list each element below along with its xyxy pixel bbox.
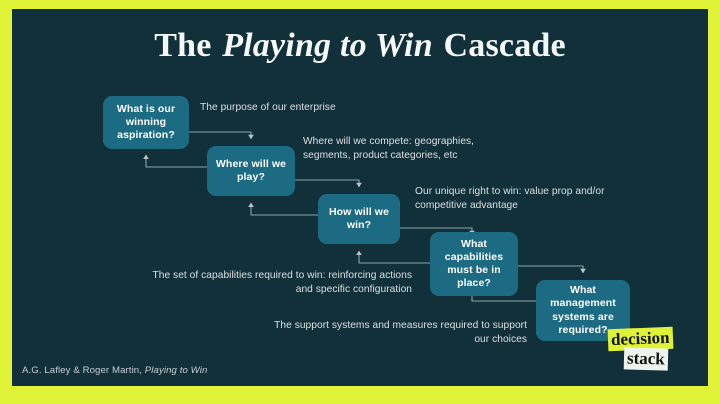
decision-stack-logo[interactable]: decision stack <box>608 328 694 372</box>
note-management-systems: The support systems and measures require… <box>267 319 527 347</box>
title-suffix: Cascade <box>435 27 566 64</box>
page-title: The Playing to Win Cascade <box>12 27 708 65</box>
node-capabilities[interactable]: What capabilities must be in place? <box>430 232 518 296</box>
source-attribution: A.G. Lafley & Roger Martin, Playing to W… <box>22 365 207 376</box>
title-book-name: Playing to Win <box>220 27 435 64</box>
connector-forward-2 <box>295 180 359 187</box>
note-where-to-play: Where will we compete: geographies, segm… <box>303 135 518 163</box>
note-purpose: The purpose of our enterprise <box>200 101 430 115</box>
connector-return-3 <box>359 251 430 263</box>
node-winning-aspiration[interactable]: What is our winning aspiration? <box>103 96 189 149</box>
node-where-to-play[interactable]: Where will we play? <box>207 146 295 196</box>
connector-return-2 <box>251 203 318 215</box>
logo-word-stack: stack <box>624 347 668 370</box>
attribution-book: Playing to Win <box>145 365 208 376</box>
node-how-to-win[interactable]: How will we win? <box>318 194 400 244</box>
connector-forward-4 <box>518 266 583 273</box>
connector-forward-1 <box>188 132 251 139</box>
title-prefix: The <box>154 27 220 64</box>
note-capabilities: The set of capabilities required to win:… <box>152 269 412 297</box>
attribution-authors: A.G. Lafley & Roger Martin, <box>22 365 145 376</box>
connector-return-1 <box>146 155 207 167</box>
slide-frame: The Playing to Win Cascade What is our w… <box>0 0 720 404</box>
slide-canvas: The Playing to Win Cascade What is our w… <box>12 9 708 386</box>
note-how-to-win: Our unique right to win: value prop and/… <box>415 185 630 213</box>
